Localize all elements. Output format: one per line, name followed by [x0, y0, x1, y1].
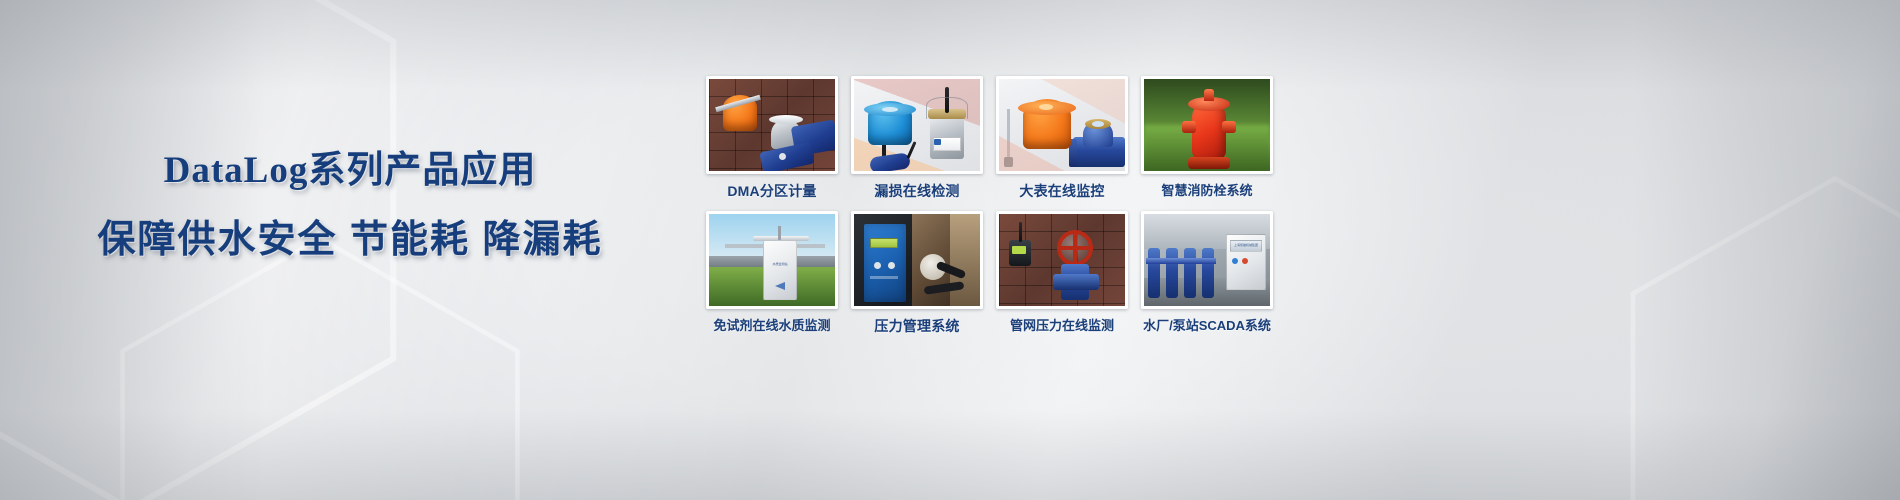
banner-headline: DataLog系列产品应用 保障供水安全 节能耗 降漏耗	[0, 148, 700, 264]
photo-red-fire-hydrant-on-grass	[1144, 79, 1270, 171]
tile-dma-zonal-metering[interactable]: DMA分区计量	[706, 76, 838, 200]
tile-caption: 智慧消防栓系统	[1141, 182, 1273, 200]
tile-caption: 管网压力在线监测	[996, 317, 1128, 335]
product-tile-row: 水质监测站 免试剂在线水质监测	[706, 211, 1282, 335]
tile-smart-fire-hydrant-system[interactable]: 智慧消防栓系统	[1141, 76, 1273, 200]
tile-waterworks-pump-station-scada-system[interactable]: 上海熊猫机械集团 水厂/泵站SCADA系统	[1141, 211, 1273, 335]
photo-orange-cap-and-flowmeter	[709, 79, 835, 171]
photo-blue-control-panel-chamber	[854, 214, 980, 306]
tile-caption: DMA分区计量	[706, 182, 838, 200]
product-application-banner: DataLog系列产品应用 保障供水安全 节能耗 降漏耗	[0, 0, 1900, 500]
headline-line-secondary: 保障供水安全 节能耗 降漏耗	[0, 216, 700, 264]
tile-reagent-free-water-quality-monitoring[interactable]: 水质监测站 免试剂在线水质监测	[706, 211, 838, 335]
tile-caption: 免试剂在线水质监测	[706, 317, 838, 335]
photo-red-wheel-valve-on-brick	[999, 214, 1125, 306]
tile-pressure-management-system[interactable]: 压力管理系统	[851, 211, 983, 335]
tile-photo-frame[interactable]	[706, 76, 838, 174]
tile-photo-frame[interactable]: 水质监测站	[706, 211, 838, 309]
hexagon-watermark-icon	[110, 230, 530, 500]
tile-bulk-meter-online-monitoring[interactable]: 大表在线监控	[996, 76, 1128, 200]
product-tile-row: DMA分区计量	[706, 76, 1282, 200]
tile-caption: 大表在线监控	[996, 182, 1128, 200]
tile-caption: 水厂/泵站SCADA系统	[1141, 317, 1273, 335]
tile-pipe-network-pressure-online-monitoring[interactable]: 管网压力在线监测	[996, 211, 1128, 335]
photo-pump-station-control-cabinet: 上海熊猫机械集团	[1144, 214, 1270, 306]
tile-photo-frame[interactable]	[996, 76, 1128, 174]
tile-photo-frame[interactable]: 上海熊猫机械集团	[1141, 211, 1273, 309]
headline-line-primary: DataLog系列产品应用	[0, 148, 700, 194]
cabinet-plate-text: 水质监测站	[765, 262, 795, 266]
hexagon-watermark-icon	[1620, 170, 1900, 500]
tile-caption: 漏损在线检测	[851, 182, 983, 200]
tile-photo-frame[interactable]	[851, 76, 983, 174]
tile-caption: 压力管理系统	[851, 317, 983, 335]
photo-water-quality-monitoring-cabinet: 水质监测站	[709, 214, 835, 306]
cabinet-plate-text: 上海熊猫机械集团	[1230, 243, 1262, 247]
photo-orange-cap-and-water-meter	[999, 79, 1125, 171]
tile-photo-frame[interactable]	[1141, 76, 1273, 174]
product-tile-grid: DMA分区计量	[706, 76, 1282, 346]
photo-blue-cover-and-logger	[854, 79, 980, 171]
tile-leakage-online-detection[interactable]: 漏损在线检测	[851, 76, 983, 200]
tile-photo-frame[interactable]	[996, 211, 1128, 309]
tile-photo-frame[interactable]	[851, 211, 983, 309]
